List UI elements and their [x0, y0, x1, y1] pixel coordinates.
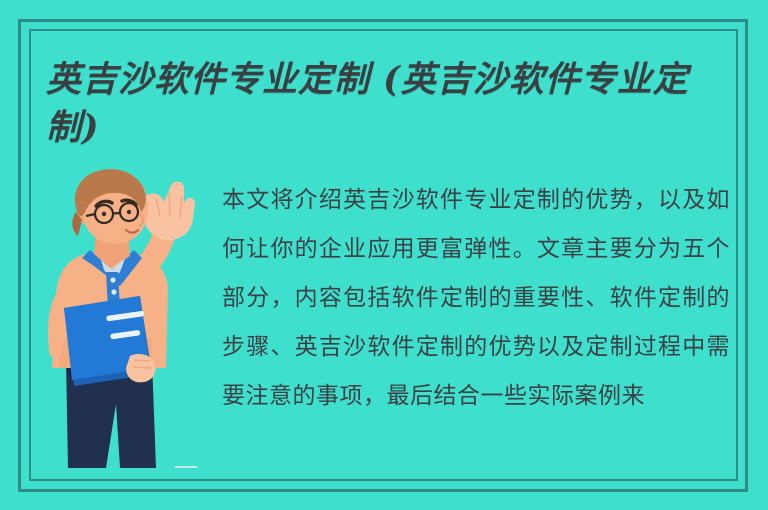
- waving-hand: [140, 181, 195, 240]
- shirt-button: [111, 289, 116, 294]
- eye: [127, 210, 131, 214]
- poster-canvas: 英吉沙软件专业定制 (英吉沙软件专业定制) 本文将介绍英吉沙软件专业定制的优势，…: [0, 0, 768, 510]
- decorative-underline: [175, 466, 197, 468]
- illustration-man-waving: [34, 168, 224, 490]
- eye: [102, 212, 106, 216]
- shirt-button: [110, 277, 115, 282]
- article-body-text: 本文将介绍英吉沙软件专业定制的优势，以及如何让你的企业应用更富弹性。文章主要分为…: [222, 176, 730, 421]
- holding-hand: [126, 354, 156, 382]
- head: [72, 169, 148, 244]
- page-title: 英吉沙软件专业定制 (英吉沙软件专业定制): [46, 56, 726, 152]
